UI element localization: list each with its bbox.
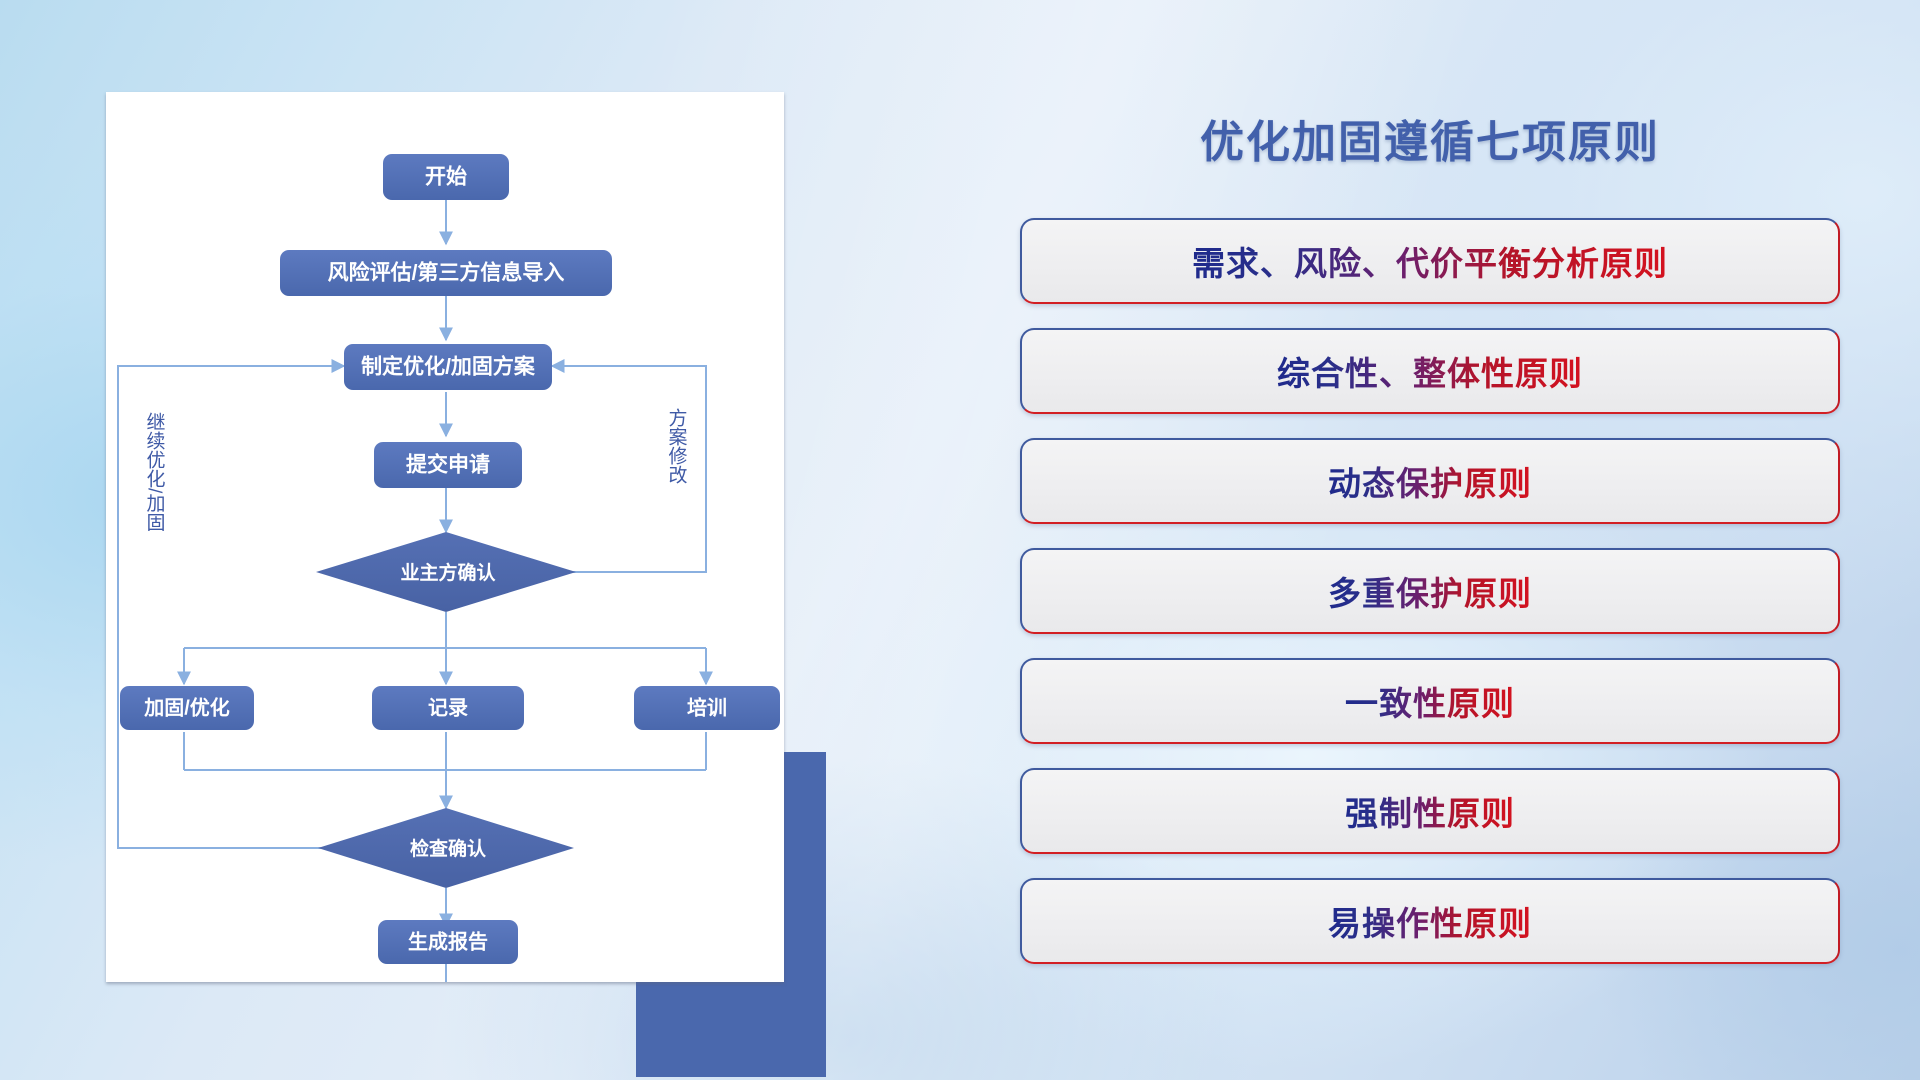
flow-node-owner-confirm[interactable]: 业主方确认 <box>316 532 576 612</box>
flow-node-report-label: 生成报告 <box>408 929 488 953</box>
flow-node-plan-label: 制定优化/加固方案 <box>361 355 536 379</box>
principle-label-4: 多重保护原则 <box>1328 567 1532 615</box>
principle-item-7[interactable]: 易操作性原则 <box>1020 878 1840 964</box>
principle-item-4[interactable]: 多重保护原则 <box>1020 548 1840 634</box>
principle-label-1: 需求、风险、代价平衡分析原则 <box>1192 237 1668 285</box>
principle-item-1[interactable]: 需求、风险、代价平衡分析原则 <box>1020 218 1840 304</box>
principles-list: 需求、风险、代价平衡分析原则 综合性、整体性原则 动态保护原则 多重保护原则 一… <box>1020 218 1840 988</box>
flow-node-record[interactable]: 记录 <box>372 686 524 730</box>
flow-node-training-label: 培训 <box>687 695 727 719</box>
flow-node-plan[interactable]: 制定优化/加固方案 <box>344 344 552 390</box>
flowchart-panel: 开始 风险评估/第三方信息导入 制定优化/加固方案 提交申请 业主方确认 <box>106 92 806 992</box>
flow-node-risk-assessment[interactable]: 风险评估/第三方信息导入 <box>280 250 612 296</box>
principle-item-3[interactable]: 动态保护原则 <box>1020 438 1840 524</box>
principle-item-5[interactable]: 一致性原则 <box>1020 658 1840 744</box>
flow-node-report[interactable]: 生成报告 <box>378 920 518 964</box>
principle-label-6: 强制性原则 <box>1345 787 1515 835</box>
principle-label-2: 综合性、整体性原则 <box>1277 347 1583 395</box>
principle-item-6[interactable]: 强制性原则 <box>1020 768 1840 854</box>
flow-node-submit-label: 提交申请 <box>406 453 490 477</box>
flow-node-check-confirm[interactable]: 检查确认 <box>318 808 574 888</box>
principles-panel: 优化加固遵循七项原则 需求、风险、代价平衡分析原则 综合性、整体性原则 动态保护… <box>1020 92 1840 1022</box>
flow-node-reinforce[interactable]: 加固/优化 <box>120 686 254 730</box>
principles-title: 优化加固遵循七项原则 <box>1020 106 1840 170</box>
flowchart-diagram: 开始 风险评估/第三方信息导入 制定优化/加固方案 提交申请 业主方确认 <box>106 92 784 982</box>
flow-node-training[interactable]: 培训 <box>634 686 780 730</box>
flow-node-reinforce-label: 加固/优化 <box>143 695 230 719</box>
flow-edge-label-right-loop: 方案修改 <box>666 408 688 484</box>
flow-node-owner-confirm-label: 业主方确认 <box>400 561 495 584</box>
flow-node-risk-assessment-label: 风险评估/第三方信息导入 <box>328 261 565 285</box>
flow-node-start[interactable]: 开始 <box>383 154 509 200</box>
principle-label-3: 动态保护原则 <box>1328 457 1532 505</box>
flow-node-record-label: 记录 <box>428 696 468 719</box>
flow-node-check-confirm-label: 检查确认 <box>410 837 486 860</box>
principle-label-5: 一致性原则 <box>1345 677 1515 725</box>
principle-item-2[interactable]: 综合性、整体性原则 <box>1020 328 1840 414</box>
flow-node-submit[interactable]: 提交申请 <box>374 442 522 488</box>
flowchart-card: 开始 风险评估/第三方信息导入 制定优化/加固方案 提交申请 业主方确认 <box>106 92 784 982</box>
flow-edge-label-left-loop: 继续优化/加固 <box>144 412 166 532</box>
flow-node-start-label: 开始 <box>425 165 467 189</box>
principle-label-7: 易操作性原则 <box>1328 897 1532 945</box>
